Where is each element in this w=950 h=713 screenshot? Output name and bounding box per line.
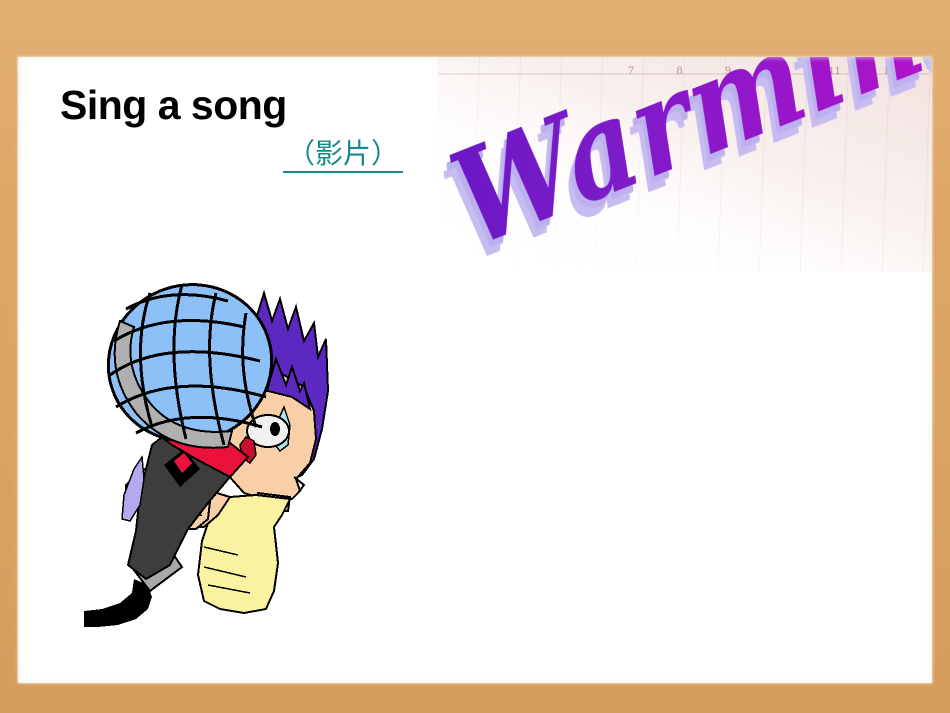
slide-canvas: 7 8 9 10 11 12 Sing a song （影片） Warming … [18, 57, 932, 683]
microphone-cable [84, 579, 152, 627]
video-hyperlink[interactable]: （影片） [283, 139, 403, 173]
slide-heading: Sing a song [60, 82, 287, 129]
eye-pupil [270, 422, 280, 436]
singer-clipart [78, 279, 350, 651]
presentation-slide: 7 8 9 10 11 12 Sing a song （影片） Warming … [0, 0, 950, 713]
